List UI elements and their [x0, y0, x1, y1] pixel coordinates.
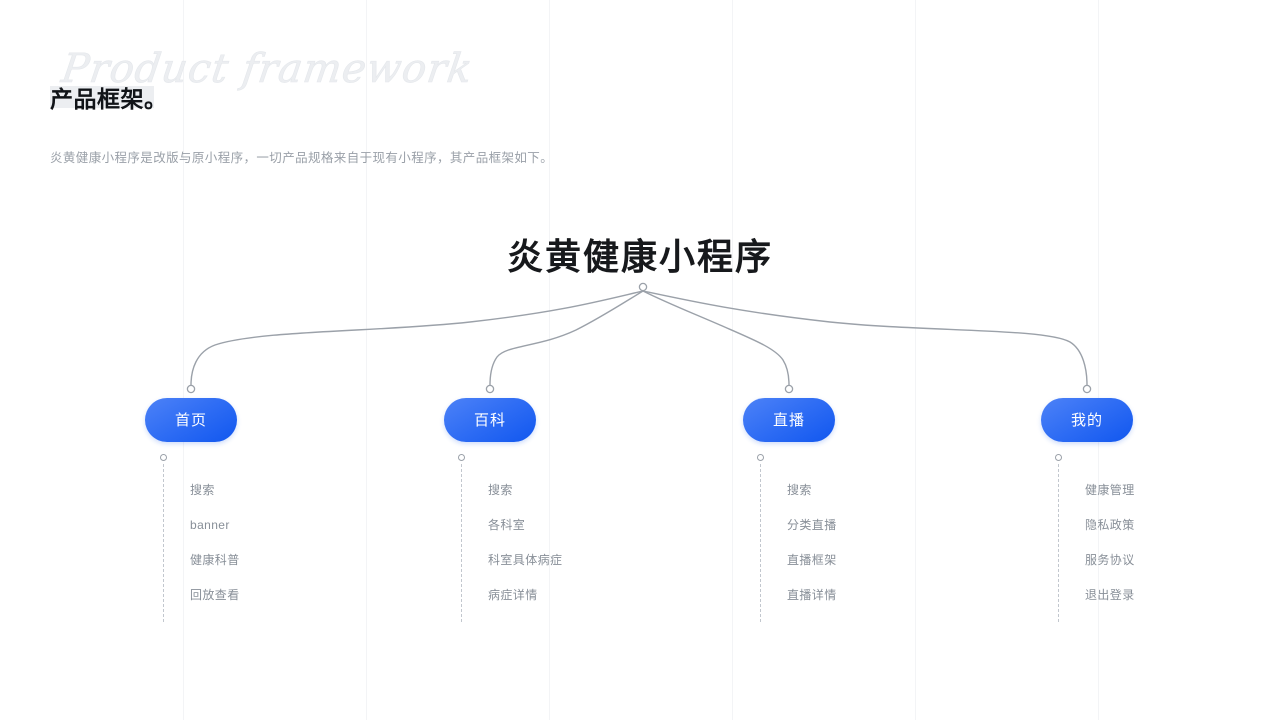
- sublist-node-dot: [458, 454, 465, 461]
- list-item[interactable]: banner: [190, 519, 240, 531]
- list-item[interactable]: 服务协议: [1085, 554, 1135, 566]
- diagram-root-title: 炎黄健康小程序: [0, 228, 1280, 280]
- list-item[interactable]: 健康管理: [1085, 484, 1135, 496]
- list-item[interactable]: 退出登录: [1085, 589, 1135, 601]
- branch-node-dot: [785, 385, 792, 392]
- branch-node-dot: [187, 385, 194, 392]
- branch-button-mine[interactable]: 我的: [1041, 398, 1133, 442]
- branch-button-live[interactable]: 直播: [743, 398, 835, 442]
- list-item[interactable]: 健康科普: [190, 554, 240, 566]
- sublist-dashed-rail: [163, 464, 164, 622]
- list-item[interactable]: 隐私政策: [1085, 519, 1135, 531]
- sublist-items: 搜索 banner 健康科普 回放查看: [190, 484, 240, 624]
- sublist-node-dot: [1055, 454, 1062, 461]
- header-block: Product framework 产品框架。: [50, 52, 168, 114]
- list-item[interactable]: 直播框架: [787, 554, 837, 566]
- sublist-items: 搜索 分类直播 直播框架 直播详情: [787, 484, 837, 624]
- branch-node-live: 直播: [689, 398, 889, 442]
- sublist-node-dot: [160, 454, 167, 461]
- branch-node-mine: 我的: [987, 398, 1187, 442]
- branch-button-home[interactable]: 首页: [145, 398, 237, 442]
- sublist-dashed-rail: [1058, 464, 1059, 622]
- list-item[interactable]: 直播详情: [787, 589, 837, 601]
- list-item[interactable]: 搜索: [488, 484, 562, 496]
- page-subtitle: 炎黄健康小程序是改版与原小程序，一切产品规格来自于现有小程序，其产品框架如下。: [50, 147, 553, 166]
- sublist-node-dot: [757, 454, 764, 461]
- root-node-dot: [639, 283, 646, 290]
- page-title-row: 产品框架。: [50, 80, 168, 114]
- list-item[interactable]: 搜索: [787, 484, 837, 496]
- branch-node-encyclopedia: 百科: [390, 398, 590, 442]
- product-framework-diagram: 炎黄健康小程序 首页 百科 直播 我的 搜索 banner 健康科普 回放查看: [0, 0, 1280, 720]
- list-item[interactable]: 分类直播: [787, 519, 837, 531]
- page-title: 产品框架。: [50, 86, 168, 112]
- branch-node-dot: [1083, 385, 1090, 392]
- branch-button-encyclopedia[interactable]: 百科: [444, 398, 536, 442]
- sublist-dashed-rail: [461, 464, 462, 622]
- list-item[interactable]: 病症详情: [488, 589, 562, 601]
- sublist-dashed-rail: [760, 464, 761, 622]
- list-item[interactable]: 搜索: [190, 484, 240, 496]
- sublist-items: 健康管理 隐私政策 服务协议 退出登录: [1085, 484, 1135, 624]
- list-item[interactable]: 各科室: [488, 519, 562, 531]
- branch-node-dot: [486, 385, 493, 392]
- list-item[interactable]: 回放查看: [190, 589, 240, 601]
- list-item[interactable]: 科室具体病症: [488, 554, 562, 566]
- branch-node-home: 首页: [91, 398, 291, 442]
- sublist-items: 搜索 各科室 科室具体病症 病症详情: [488, 484, 562, 624]
